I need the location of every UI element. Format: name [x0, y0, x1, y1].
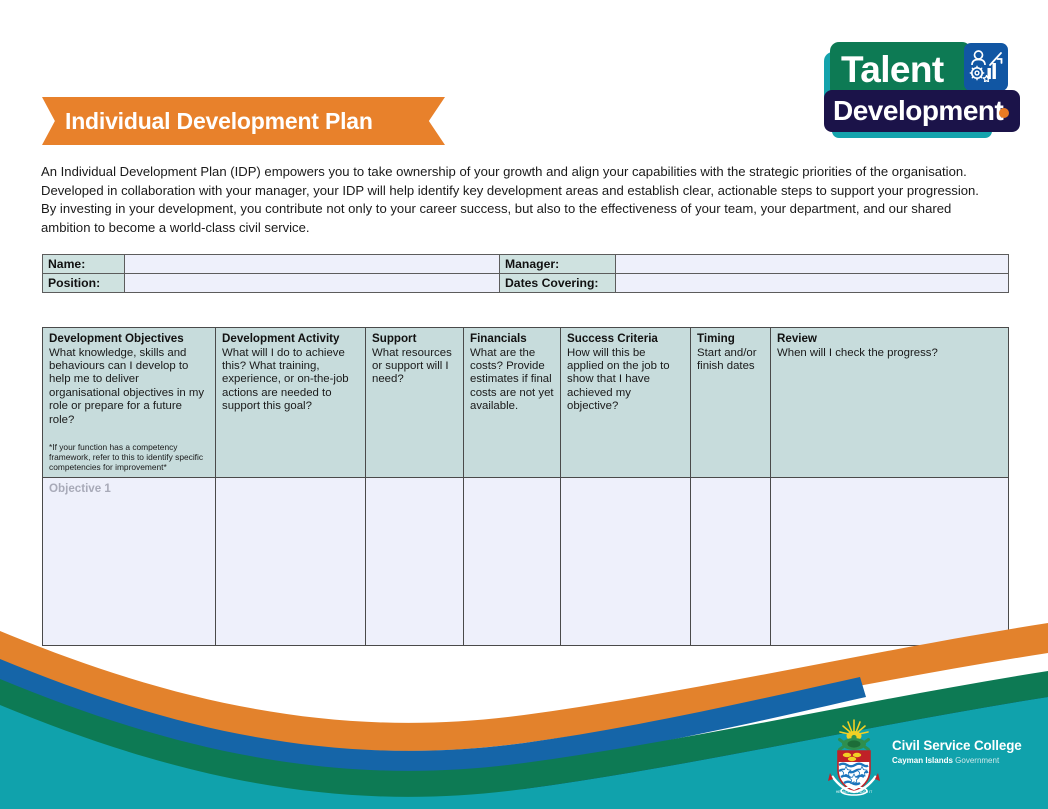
page-title-banner: Individual Development Plan	[42, 97, 445, 145]
civil-service-college-wordmark: Civil Service College Cayman Islands Gov…	[892, 738, 1022, 766]
column-title: Support	[372, 332, 458, 346]
table-header-row: Development Objectives What knowledge, s…	[43, 328, 1009, 478]
column-title: Development Activity	[222, 332, 360, 346]
position-input[interactable]	[125, 274, 500, 293]
organisation-subtitle-light: Government	[955, 756, 999, 765]
talent-development-logo: Talent Development	[824, 42, 1024, 138]
column-description: What will I do to achieve this? What tra…	[222, 347, 360, 414]
manager-input[interactable]	[616, 255, 1009, 274]
name-label: Name:	[43, 255, 125, 274]
column-title: Success Criteria	[567, 332, 685, 346]
intro-paragraph: An Individual Development Plan (IDP) emp…	[41, 163, 991, 237]
svg-text:HE HATH FOUNDED IT: HE HATH FOUNDED IT	[836, 790, 872, 794]
dates-covering-input[interactable]	[616, 274, 1009, 293]
column-description: Start and/or finish dates	[697, 347, 765, 374]
position-label: Position:	[43, 274, 125, 293]
column-header-timing: Timing Start and/or finish dates	[691, 328, 771, 478]
cayman-islands-coat-of-arms-icon: HE HATH FOUNDED IT	[824, 718, 884, 801]
civil-service-college-logo: HE HATH FOUNDED IT Civil Service College…	[824, 716, 1039, 798]
column-header-development-objectives: Development Objectives What knowledge, s…	[43, 328, 216, 478]
column-header-review: Review When will I check the progress?	[771, 328, 1009, 478]
organisation-subtitle: Cayman Islands Government	[892, 755, 1022, 766]
table-row: Name: Manager:	[43, 255, 1009, 274]
column-header-success-criteria: Success Criteria How will this be applie…	[561, 328, 691, 478]
organisation-subtitle-strong: Cayman Islands	[892, 756, 953, 765]
dates-covering-label: Dates Covering:	[500, 274, 616, 293]
column-title: Timing	[697, 332, 765, 346]
talent-growth-icon	[964, 43, 1008, 91]
column-title: Development Objectives	[49, 332, 210, 346]
logo-talent-text: Talent	[841, 46, 944, 94]
column-header-development-activity: Development Activity What will I do to a…	[216, 328, 366, 478]
manager-label: Manager:	[500, 255, 616, 274]
organisation-name: Civil Service College	[892, 738, 1022, 754]
logo-development-block: Development	[824, 90, 1020, 132]
column-description: What resources or support will I need?	[372, 347, 458, 387]
column-title: Review	[777, 332, 1003, 346]
development-plan-table: Development Objectives What knowledge, s…	[42, 327, 1009, 646]
objective-placeholder: Objective 1	[49, 482, 210, 495]
column-description: How will this be applied on the job to s…	[567, 347, 685, 414]
page-title: Individual Development Plan	[65, 97, 373, 145]
column-header-financials: Financials What are the costs? Provide e…	[464, 328, 561, 478]
column-title: Financials	[470, 332, 555, 346]
participant-info-table: Name: Manager: Position: Dates Covering:	[42, 254, 1009, 293]
column-header-support: Support What resources or support will I…	[366, 328, 464, 478]
logo-orange-dot-icon	[999, 108, 1009, 118]
column-description: What are the costs? Provide estimates if…	[470, 347, 555, 414]
column-description: What knowledge, skills and behaviours ca…	[49, 347, 210, 427]
name-input[interactable]	[125, 255, 500, 274]
column-note: *If your function has a competency frame…	[49, 442, 210, 473]
idp-document-page: Talent Development Individual Develop	[0, 0, 1048, 809]
logo-development-text: Development	[833, 93, 1003, 129]
table-row: Position: Dates Covering:	[43, 274, 1009, 293]
column-description: When will I check the progress?	[777, 347, 1003, 360]
